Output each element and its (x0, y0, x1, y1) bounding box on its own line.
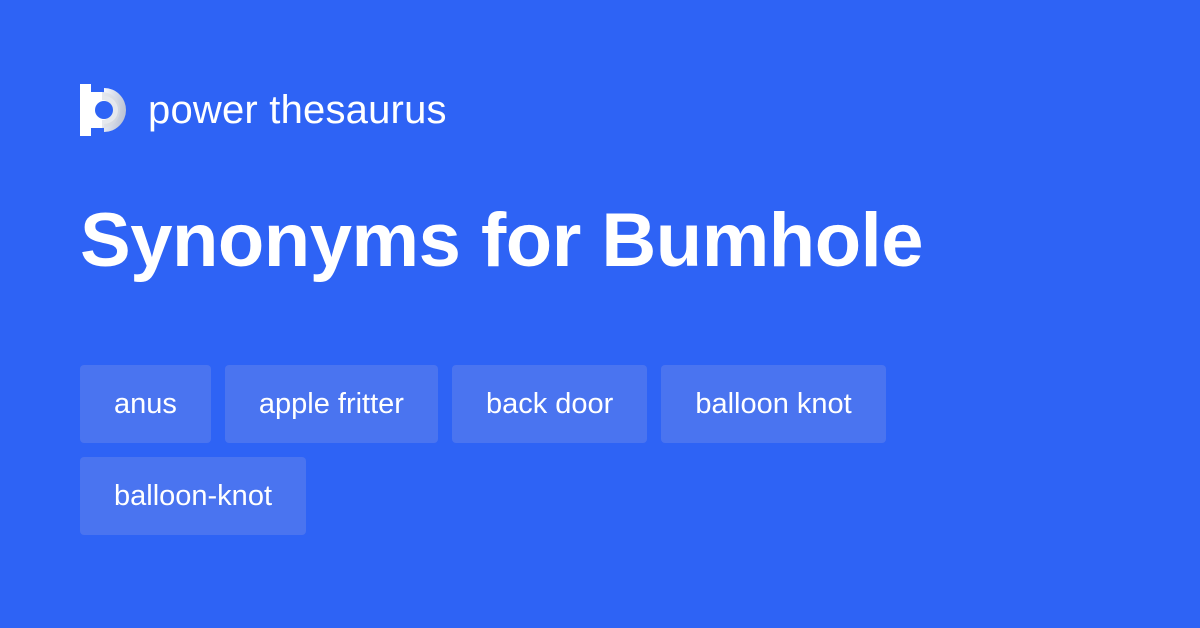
synonym-tag[interactable]: anus (80, 365, 211, 443)
synonym-tag[interactable]: balloon knot (661, 365, 885, 443)
brand-name: power thesaurus (148, 90, 447, 130)
synonym-tag-row: anus apple fritter back door balloon kno… (80, 365, 1120, 535)
synonym-tag[interactable]: apple fritter (225, 365, 438, 443)
synonym-tag-list: anus apple fritter back door balloon kno… (80, 365, 1120, 535)
power-thesaurus-b-logo-icon (80, 84, 128, 136)
brand-logo[interactable]: power thesaurus (80, 84, 447, 136)
synonym-tag[interactable]: balloon-knot (80, 457, 306, 535)
synonym-card: power thesaurus Synonyms for Bumhole anu… (0, 0, 1200, 628)
page-title: Synonyms for Bumhole (80, 196, 923, 286)
synonym-tag[interactable]: back door (452, 365, 647, 443)
